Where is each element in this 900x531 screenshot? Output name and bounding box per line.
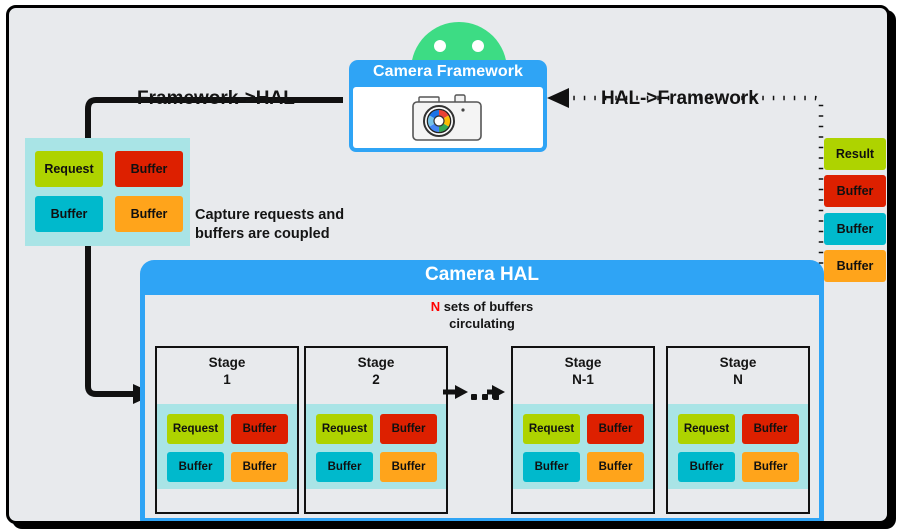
stage-1-title-line-1: Stage: [157, 354, 297, 371]
stage-n1-title-line-1: Stage: [513, 354, 653, 371]
stage-n1-chips: Request Buffer Buffer Buffer: [513, 404, 653, 489]
slide-frame: Camera Framework: [6, 5, 890, 524]
camera-hal-title: Camera HAL: [140, 264, 824, 286]
stage-n-chip-request: Request: [678, 414, 735, 444]
stage-n1-chip-request: Request: [523, 414, 580, 444]
stage-2-title-line-2: 2: [306, 371, 446, 388]
stage-1-title: Stage 1: [157, 354, 297, 389]
label-hal-to-framework: HAL->Framework: [601, 88, 759, 110]
stage-1-title-line-2: 1: [157, 371, 297, 388]
hal-note-line-2: circulating: [145, 316, 819, 333]
coupled-note-line-1: Capture requests and: [195, 206, 344, 225]
stage-n1-chip-buffer-teal: Buffer: [523, 452, 580, 482]
stage-n1-title: Stage N-1: [513, 354, 653, 389]
result-buffer-column: Result Buffer Buffer Buffer: [824, 138, 886, 286]
coupled-request-buffer-group: Request Buffer Buffer Buffer: [25, 138, 190, 246]
camera-icon: [411, 93, 485, 143]
camera-framework-title: Camera Framework: [349, 63, 547, 81]
stage-1-chip-request: Request: [167, 414, 224, 444]
camera-framework-body: [353, 87, 543, 148]
stage-n-chips: Request Buffer Buffer Buffer: [668, 404, 808, 489]
stage-2-chip-request: Request: [316, 414, 373, 444]
stage-2-chip-buffer-red: Buffer: [380, 414, 437, 444]
ellipsis-dot-3: [493, 394, 499, 400]
stage-2-chip-buffer-orange: Buffer: [380, 452, 437, 482]
stage-n-title: Stage N: [668, 354, 808, 389]
stage-box-2[interactable]: Stage 2 Request Buffer Buffer Buffer: [304, 346, 448, 514]
stage-2-title: Stage 2: [306, 354, 446, 389]
chip-buffer-teal: Buffer: [35, 196, 103, 232]
stage-1-chip-buffer-orange: Buffer: [231, 452, 288, 482]
chip-result-buffer-teal: Buffer: [824, 213, 886, 245]
chip-request: Request: [35, 151, 103, 187]
camera-framework-box[interactable]: Camera Framework: [349, 60, 547, 152]
hal-circulating-note: N sets of buffers circulating: [145, 299, 819, 332]
coupled-note: Capture requests and buffers are coupled: [195, 206, 344, 244]
stage-1-chip-buffer-teal: Buffer: [167, 452, 224, 482]
ellipsis-dot-2: [482, 394, 488, 400]
stage-n-title-line-1: Stage: [668, 354, 808, 371]
stage-ellipsis: [471, 392, 499, 402]
stage-box-n-minus-1[interactable]: Stage N-1 Request Buffer Buffer Buffer: [511, 346, 655, 514]
stage-2-chips: Request Buffer Buffer Buffer: [306, 404, 446, 489]
ellipsis-dot-1: [471, 394, 477, 400]
coupled-note-line-2: buffers are coupled: [195, 225, 344, 244]
stage-n-chip-buffer-teal: Buffer: [678, 452, 735, 482]
hal-note-line-1: N sets of buffers: [145, 299, 819, 316]
stage-1-chips: Request Buffer Buffer Buffer: [157, 404, 297, 489]
hal-note-n: N: [431, 299, 440, 314]
chip-buffer-orange: Buffer: [115, 196, 183, 232]
stage-n1-title-line-2: N-1: [513, 371, 653, 388]
chip-buffer-red: Buffer: [115, 151, 183, 187]
stage-box-n[interactable]: Stage N Request Buffer Buffer Buffer: [666, 346, 810, 514]
stage-n1-chip-buffer-red: Buffer: [587, 414, 644, 444]
stage-n1-chip-buffer-orange: Buffer: [587, 452, 644, 482]
chip-result-buffer-orange: Buffer: [824, 250, 886, 282]
stage-2-title-line-1: Stage: [306, 354, 446, 371]
hal-note-text: sets of buffers: [440, 299, 533, 314]
diagram-canvas: Camera Framework: [0, 0, 900, 531]
stage-1-chip-buffer-red: Buffer: [231, 414, 288, 444]
stage-n-chip-buffer-red: Buffer: [742, 414, 799, 444]
stage-box-1[interactable]: Stage 1 Request Buffer Buffer Buffer: [155, 346, 299, 514]
chip-result-buffer-red: Buffer: [824, 175, 886, 207]
label-framework-to-hal: Framework->HAL: [137, 88, 295, 110]
chip-result: Result: [824, 138, 886, 170]
stage-n-title-line-2: N: [668, 371, 808, 388]
stage-n-chip-buffer-orange: Buffer: [742, 452, 799, 482]
stage-2-chip-buffer-teal: Buffer: [316, 452, 373, 482]
